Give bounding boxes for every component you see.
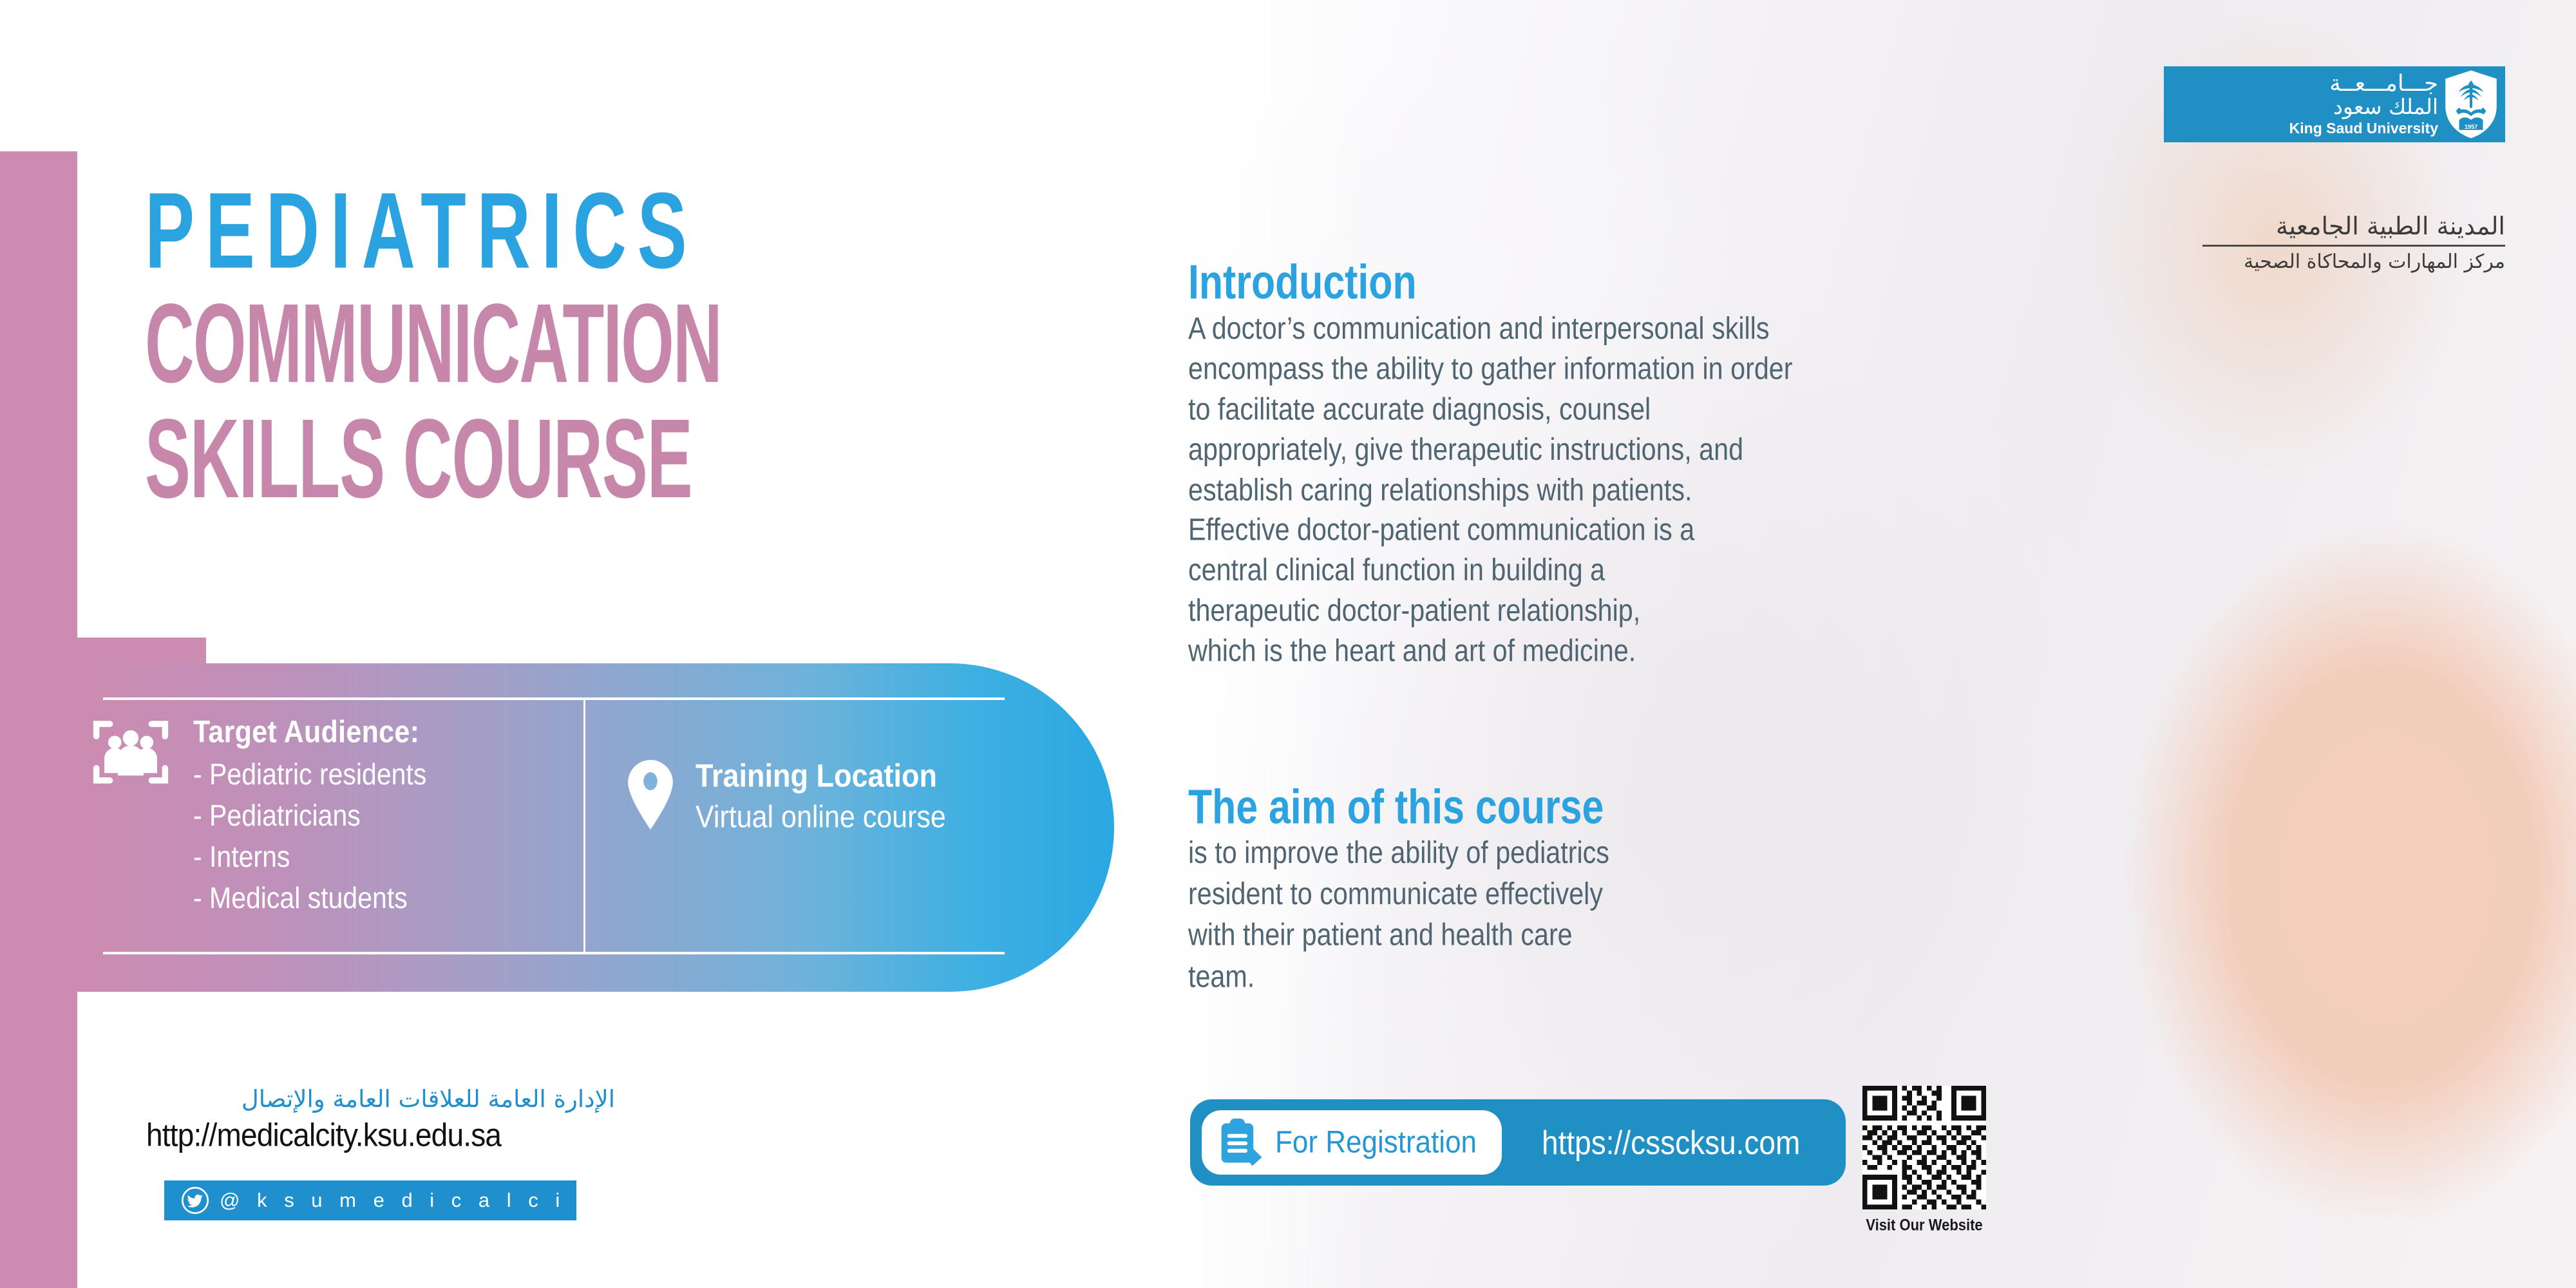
introduction-heading: Introduction: [1188, 258, 1959, 307]
training-location-title: Training Location: [696, 759, 946, 793]
qr-caption: Visit Our Website: [1862, 1216, 1986, 1235]
twitter-handle-bar[interactable]: @ k s u m e d i c a l c i t y: [164, 1180, 576, 1220]
poster-root: PEDIATRICS COMMUNICATION SKILLS COURSE T…: [0, 0, 2576, 1288]
aim-body: is to improve the ability of pediatrics …: [1188, 833, 1868, 998]
target-audience-item-1: - Pediatricians: [193, 801, 426, 831]
aim-heading: The aim of this course: [1188, 782, 1861, 831]
introduction-line-6: central clinical function in building a: [1188, 551, 1967, 592]
ksu-shield-year: 1957: [2465, 124, 2477, 130]
ksu-logo: جـــامـــعــة الملك سعود King Saud Unive…: [2164, 66, 2505, 142]
clipboard-pen-icon: [1217, 1118, 1266, 1167]
ksu-arabic-line2: الملك سعود: [2289, 96, 2438, 118]
registration-bar[interactable]: For Registration https://csscksu.com: [1190, 1099, 1846, 1186]
medical-city-divider: [2202, 245, 2505, 247]
people-group-icon: [91, 715, 170, 790]
title-line-skills-course: SKILLS COURSE: [145, 406, 898, 514]
twitter-bird-icon: [181, 1186, 209, 1215]
pill-rule-top: [103, 697, 1005, 700]
medical-city-branding: المدينة الطبية الجامعية مركز المهارات وا…: [2164, 213, 2505, 272]
registration-url[interactable]: https://csscksu.com: [1542, 1123, 1800, 1162]
ksu-english-name: King Saud University: [2289, 120, 2438, 137]
target-audience-item-2: - Interns: [193, 842, 426, 872]
aim-line-0: is to improve the ability of pediatrics: [1188, 833, 1868, 874]
introduction-line-7: therapeutic doctor-patient relationship,: [1188, 591, 1967, 632]
ksu-arabic-line1: جـــامـــعــة: [2289, 72, 2438, 96]
introduction-line-8: which is the heart and art of medicine.: [1188, 632, 1967, 672]
pill-vertical-divider: [583, 699, 585, 952]
page-title: PEDIATRICS COMMUNICATION SKILLS COURSE: [145, 177, 982, 479]
introduction-body: A doctor’s communication and interperson…: [1188, 309, 1967, 672]
title-line-pediatrics: PEDIATRICS: [145, 177, 965, 285]
pill-rule-bottom: [103, 952, 1005, 954]
target-audience-block: Target Audience: - Pediatric residents -…: [193, 716, 426, 910]
title-line-communication: COMMUNICATION: [145, 290, 898, 399]
training-location-value: Virtual online course: [696, 801, 946, 834]
aim-line-1: resident to communicate effectively: [1188, 874, 1868, 915]
ksu-logo-text: جـــامـــعــة الملك سعود King Saud Unive…: [2289, 72, 2438, 137]
aim-line-3: team.: [1188, 956, 1868, 998]
introduction-line-3: appropriately, give therapeutic instruct…: [1188, 430, 1967, 471]
contact-website-url[interactable]: http://medicalcity.ksu.edu.sa: [146, 1116, 501, 1153]
target-audience-item-3: - Medical students: [193, 884, 426, 913]
map-pin-icon: [628, 760, 673, 829]
contact-department-arabic: الإدارة العامة للعلاقات العامة والإتصال: [164, 1085, 615, 1113]
target-audience-item-0: - Pediatric residents: [193, 760, 426, 790]
introduction-line-2: to facilitate accurate diagnosis, counse…: [1188, 390, 1967, 430]
registration-label: For Registration: [1275, 1125, 1477, 1160]
registration-chip[interactable]: For Registration: [1202, 1110, 1502, 1175]
introduction-section: Introduction A doctor’s communication an…: [1188, 258, 2000, 633]
twitter-handle-text: @ k s u m e d i c a l c i t y: [220, 1189, 616, 1212]
introduction-line-0: A doctor’s communication and interperson…: [1188, 309, 1967, 350]
introduction-line-4: establish caring relationships with pati…: [1188, 470, 1967, 511]
qr-block: Visit Our Website: [1862, 1086, 2005, 1233]
training-location-block: Training Location Virtual online course: [696, 759, 946, 830]
simulation-center-name: مركز المهارات والمحاكاة الصحية: [2164, 251, 2505, 273]
aim-section: The aim of this course is to improve the…: [1188, 782, 1897, 980]
ksu-shield-icon: 1957: [2443, 70, 2499, 139]
target-audience-title: Target Audience:: [193, 716, 426, 749]
introduction-line-5: Effective doctor-patient communication i…: [1188, 511, 1967, 551]
introduction-line-1: encompass the ability to gather informat…: [1188, 350, 1967, 390]
aim-line-2: with their patient and health care: [1188, 915, 1868, 956]
medical-city-name: المدينة الطبية الجامعية: [2164, 213, 2505, 240]
qr-code-icon[interactable]: [1862, 1086, 1986, 1209]
